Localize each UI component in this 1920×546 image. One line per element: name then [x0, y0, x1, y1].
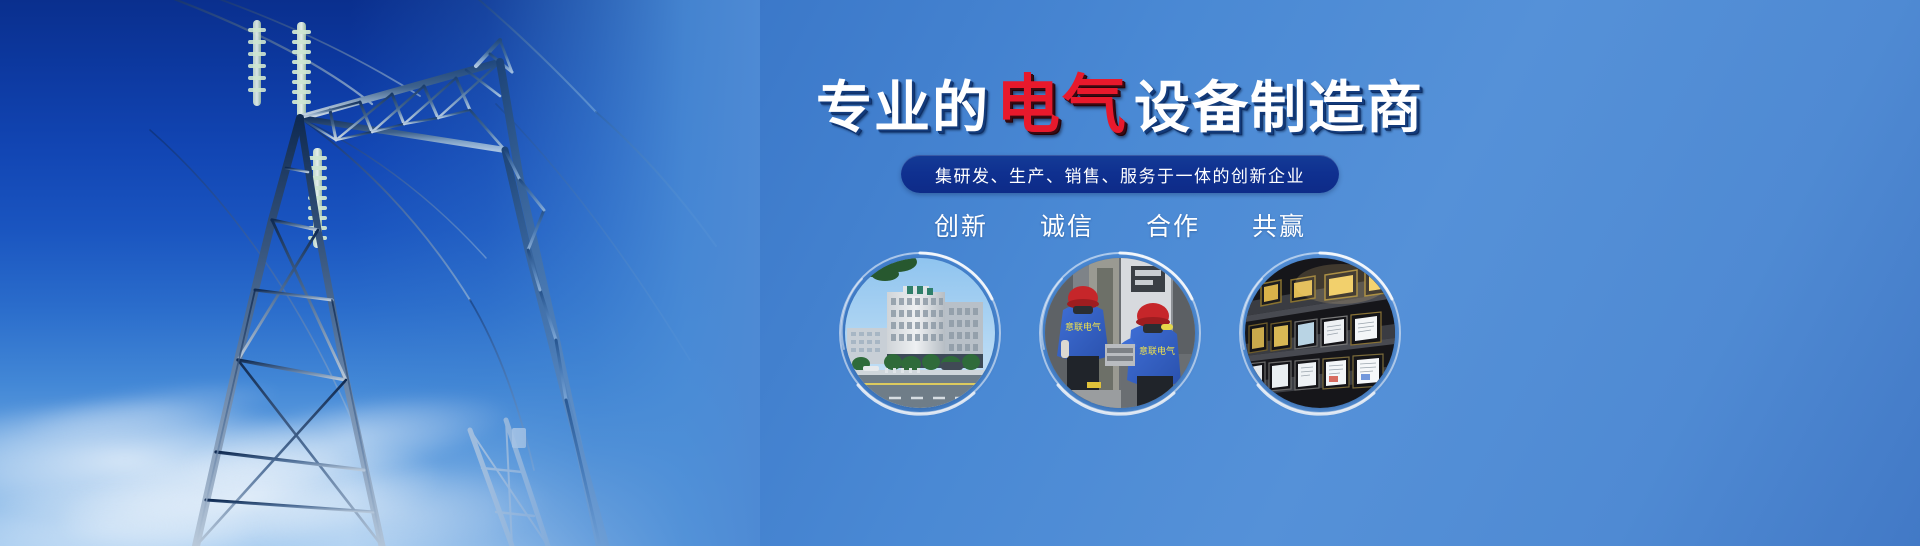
- headline-part-2: 设备制造商: [1134, 81, 1424, 137]
- transmission-tower-photo: [0, 0, 760, 546]
- hero-banner: 专业的电气设备制造商 集研发、生产、销售、服务于一体的创新企业 创新 诚信 合作…: [0, 0, 1920, 546]
- photo-thumbnail: [1245, 258, 1395, 408]
- keyword-item: 诚信: [1040, 207, 1094, 243]
- keyword-item: 创新: [934, 207, 988, 243]
- headline-highlight: 电气: [990, 74, 1134, 138]
- svg-text:意联电气: 意联电气: [1065, 321, 1101, 333]
- photo-blend-overlay: [0, 0, 760, 546]
- office-building-photo: [845, 258, 995, 408]
- certificates-wall-photo: [1245, 258, 1395, 408]
- photo-thumbnail: 意联电气 意联电气: [1045, 258, 1195, 408]
- svg-text:意联电气: 意联电气: [1139, 345, 1175, 357]
- keyword-list: 创新 诚信 合作 共赢: [660, 207, 1580, 243]
- tagline-text: 集研发、生产、销售、服务于一体的创新企业: [935, 162, 1305, 187]
- tagline-pill: 集研发、生产、销售、服务于一体的创新企业: [901, 155, 1339, 193]
- headline-part-1: 专业的: [816, 81, 990, 137]
- headline: 专业的电气设备制造商: [660, 74, 1580, 138]
- keyword-item: 共赢: [1252, 207, 1306, 243]
- keyword-item: 合作: [1146, 207, 1200, 243]
- photo-thumbnail: [845, 258, 995, 408]
- workers-installation-photo: 意联电气 意联电气: [1045, 258, 1195, 408]
- feature-photo-row: 意联电气 意联电气: [660, 258, 1580, 408]
- banner-content: 专业的电气设备制造商 集研发、生产、销售、服务于一体的创新企业 创新 诚信 合作…: [660, 0, 1580, 546]
